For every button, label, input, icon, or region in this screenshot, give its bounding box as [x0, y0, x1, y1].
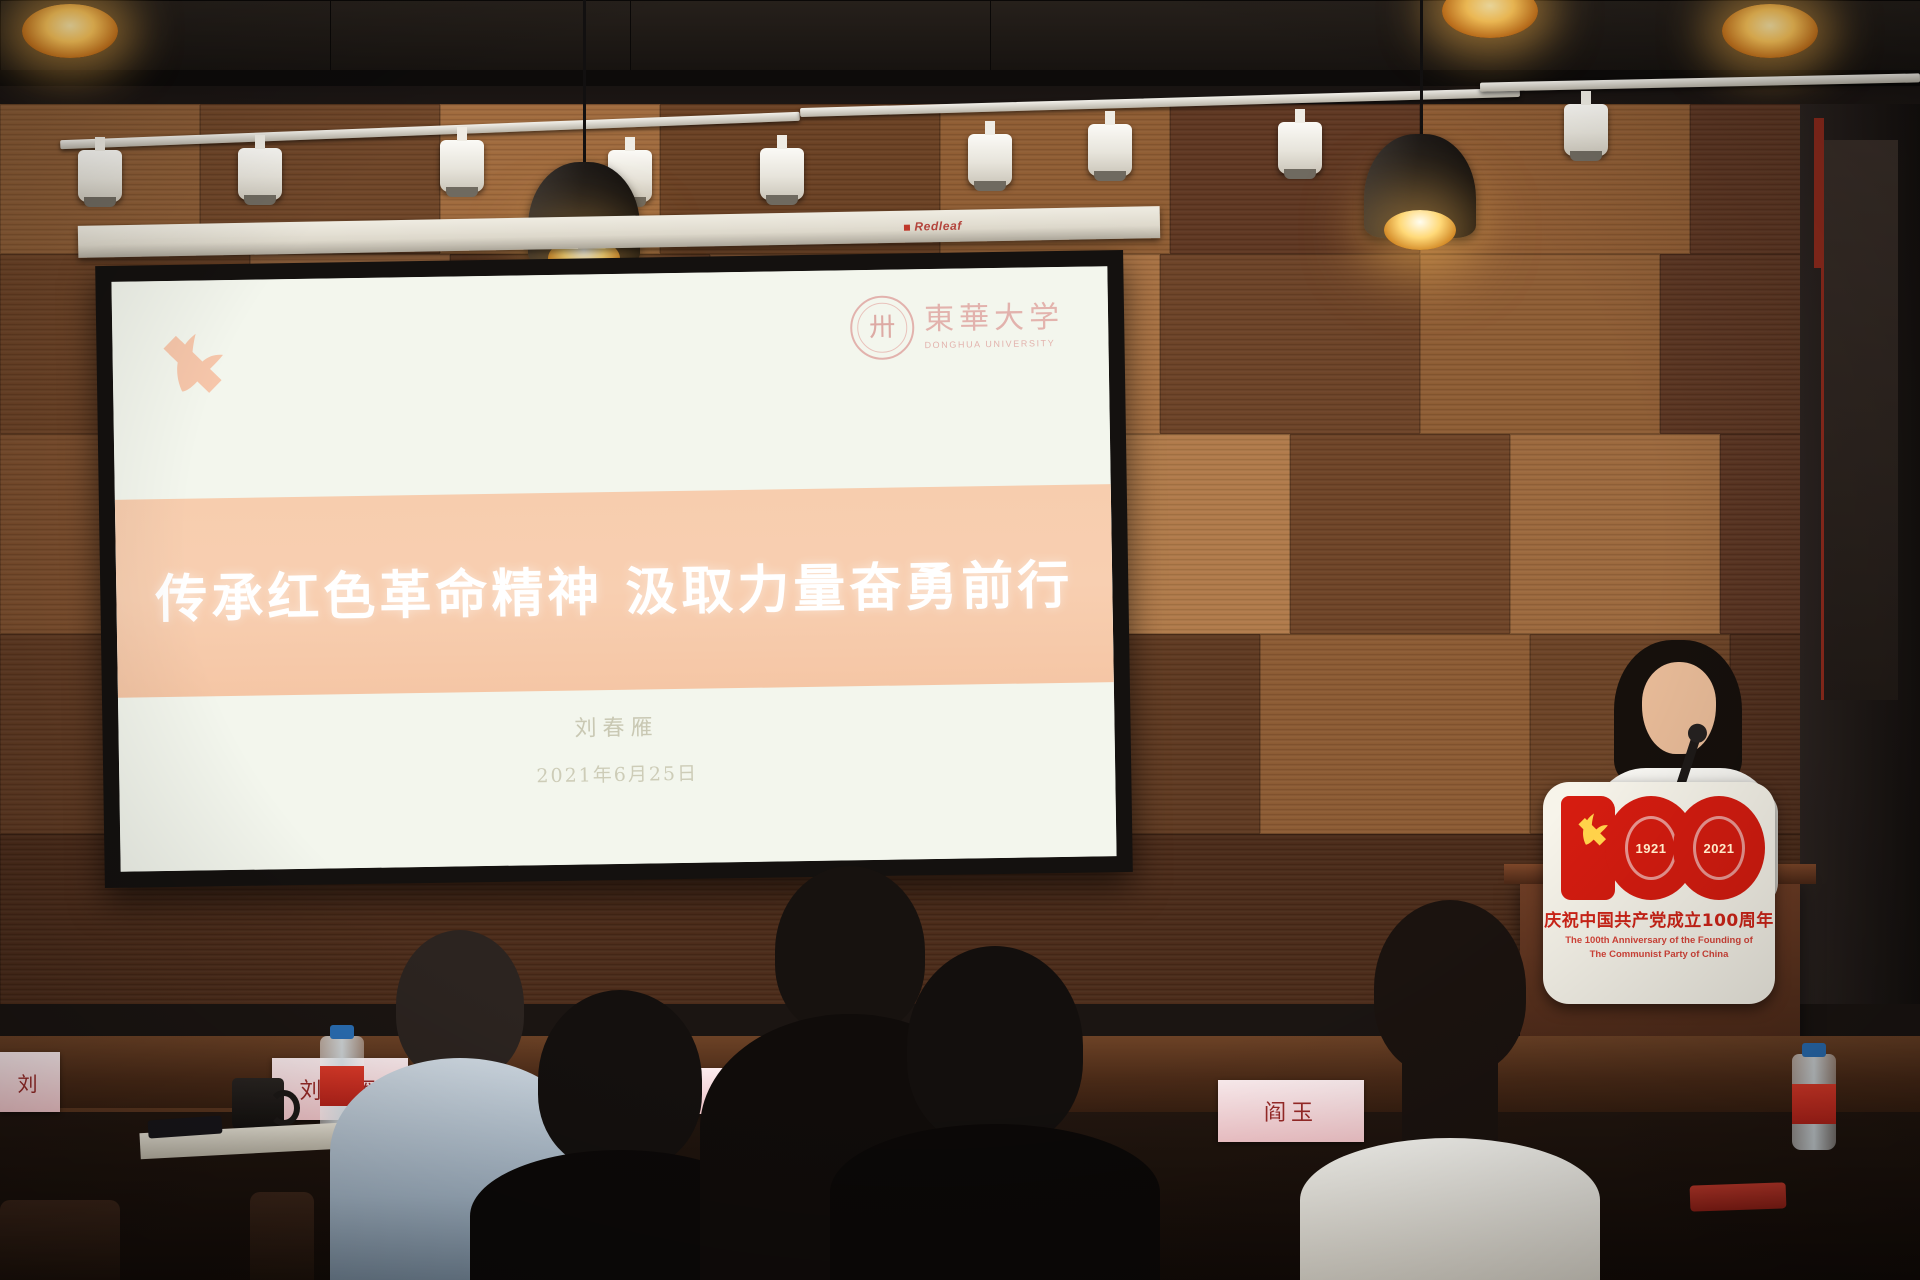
ceiling-panel: [630, 0, 992, 72]
water-bottle: [1792, 1054, 1836, 1150]
track-spotlight: [968, 134, 1012, 186]
doorway: [1821, 140, 1898, 700]
donghua-seal-icon: 卅: [850, 295, 915, 360]
name-card: 刘: [0, 1052, 60, 1112]
track-spotlight: [78, 150, 122, 202]
presentation-slide: 卅 東華大学 DONGHUA UNIVERSITY 传承红色革命精神 汲取力量奋…: [111, 266, 1116, 872]
slide-date: 2021年6月25日: [119, 752, 1115, 795]
screen-brand-label: Redleaf: [904, 219, 962, 234]
track-spotlight: [1278, 122, 1322, 174]
pendant-cord: [583, 0, 586, 166]
donghua-university-logo: 卅 東華大学 DONGHUA UNIVERSITY: [850, 293, 1065, 360]
emblem-year-start: 1921: [1636, 841, 1667, 856]
square-dot-icon: [904, 224, 910, 230]
bottle-label: [1792, 1084, 1836, 1124]
ceiling: [0, 0, 1920, 112]
ceiling-panel: [990, 0, 1422, 72]
hammer-and-sickle-icon: [154, 316, 245, 409]
track-spotlight: [238, 148, 282, 200]
track-spotlight: [440, 140, 484, 192]
black-mug: [232, 1078, 284, 1132]
audience-head: [907, 946, 1083, 1146]
speaker-face: [1642, 662, 1716, 754]
track-spotlight: [1564, 104, 1608, 156]
slide-title: 传承红色革命精神 汲取力量奋勇前行: [116, 542, 1113, 633]
lecture-hall-photo: Redleaf 卅: [0, 0, 1920, 1280]
slide-presenter-name: 刘春雁: [118, 702, 1114, 750]
university-name-en: DONGHUA UNIVERSITY: [924, 337, 1064, 349]
ceiling-panel: [330, 0, 632, 72]
pendant-cord: [1420, 0, 1423, 138]
seal-glyph: 卅: [869, 315, 895, 341]
university-name-cn: 東華大学: [924, 302, 1064, 334]
emblem-number-100: 1921 2021: [1555, 792, 1763, 904]
audience-shoulders: [1300, 1138, 1600, 1280]
chair: [0, 1200, 120, 1280]
lamp-bulb: [1384, 210, 1456, 250]
ceiling-light: [22, 4, 118, 58]
audience-shoulders: [830, 1124, 1160, 1280]
hammer-and-sickle-icon: [1569, 806, 1621, 852]
audience-member-right: [1300, 900, 1600, 1280]
emblem-year-end: 2021: [1704, 841, 1735, 856]
ceiling-light: [1722, 4, 1818, 58]
projection-screen: 卅 東華大学 DONGHUA UNIVERSITY 传承红色革命精神 汲取力量奋…: [95, 250, 1133, 888]
audience-member-center-right: [830, 946, 1160, 1280]
track-spotlight: [1088, 124, 1132, 176]
emblem-zero-2021: 2021: [1673, 796, 1765, 900]
screen-surface: 卅 東華大学 DONGHUA UNIVERSITY 传承红色革命精神 汲取力量奋…: [111, 266, 1116, 872]
chair: [250, 1192, 314, 1280]
red-folder: [1690, 1182, 1787, 1211]
track-spotlight: [760, 148, 804, 200]
bottle-cap: [1802, 1043, 1826, 1057]
red-wall-accent: [1814, 118, 1824, 268]
audience-head: [538, 990, 702, 1170]
